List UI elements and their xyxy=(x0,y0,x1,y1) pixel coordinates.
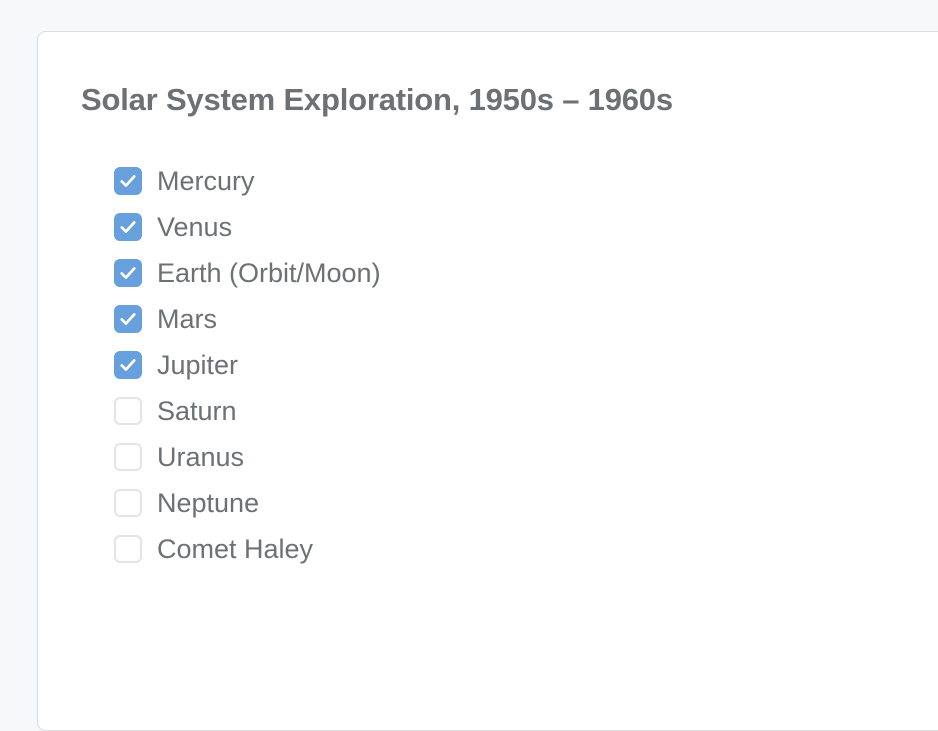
checkbox-label-mars: Mars xyxy=(157,306,217,333)
checkbox-label-jupiter: Jupiter xyxy=(157,352,238,379)
checkbox-label-venus: Venus xyxy=(157,214,232,241)
checkbox-label-saturn: Saturn xyxy=(157,398,237,425)
checkbox-row-earth-orbit-moon[interactable]: Earth (Orbit/Moon) xyxy=(114,250,814,296)
checkmark-icon xyxy=(118,309,138,329)
checkbox-row-uranus[interactable]: Uranus xyxy=(114,434,814,480)
checkbox-row-neptune[interactable]: Neptune xyxy=(114,480,814,526)
checkmark-icon xyxy=(118,263,138,283)
page-title: Solar System Exploration, 1950s – 1960s xyxy=(81,82,673,118)
checkmark-icon xyxy=(118,171,138,191)
checkbox-saturn[interactable] xyxy=(114,397,142,425)
solar-system-card: Solar System Exploration, 1950s – 1960s … xyxy=(37,31,938,731)
checkbox-label-comet-haley: Comet Haley xyxy=(157,536,313,563)
planet-checkbox-list: MercuryVenusEarth (Orbit/Moon)MarsJupite… xyxy=(114,158,814,572)
checkbox-row-venus[interactable]: Venus xyxy=(114,204,814,250)
checkbox-neptune[interactable] xyxy=(114,489,142,517)
checkbox-earth-orbit-moon[interactable] xyxy=(114,259,142,287)
checkbox-label-mercury: Mercury xyxy=(157,168,255,195)
checkbox-row-mars[interactable]: Mars xyxy=(114,296,814,342)
checkmark-icon xyxy=(118,217,138,237)
checkbox-mars[interactable] xyxy=(114,305,142,333)
checkbox-label-neptune: Neptune xyxy=(157,490,259,517)
page-root: Solar System Exploration, 1950s – 1960s … xyxy=(0,0,938,672)
checkbox-jupiter[interactable] xyxy=(114,351,142,379)
checkmark-icon xyxy=(118,355,138,375)
checkbox-label-uranus: Uranus xyxy=(157,444,244,471)
checkbox-venus[interactable] xyxy=(114,213,142,241)
checkbox-uranus[interactable] xyxy=(114,443,142,471)
checkbox-label-earth-orbit-moon: Earth (Orbit/Moon) xyxy=(157,260,381,287)
checkbox-row-comet-haley[interactable]: Comet Haley xyxy=(114,526,814,572)
checkbox-mercury[interactable] xyxy=(114,167,142,195)
checkbox-row-mercury[interactable]: Mercury xyxy=(114,158,814,204)
checkbox-row-jupiter[interactable]: Jupiter xyxy=(114,342,814,388)
checkbox-row-saturn[interactable]: Saturn xyxy=(114,388,814,434)
checkbox-comet-haley[interactable] xyxy=(114,535,142,563)
